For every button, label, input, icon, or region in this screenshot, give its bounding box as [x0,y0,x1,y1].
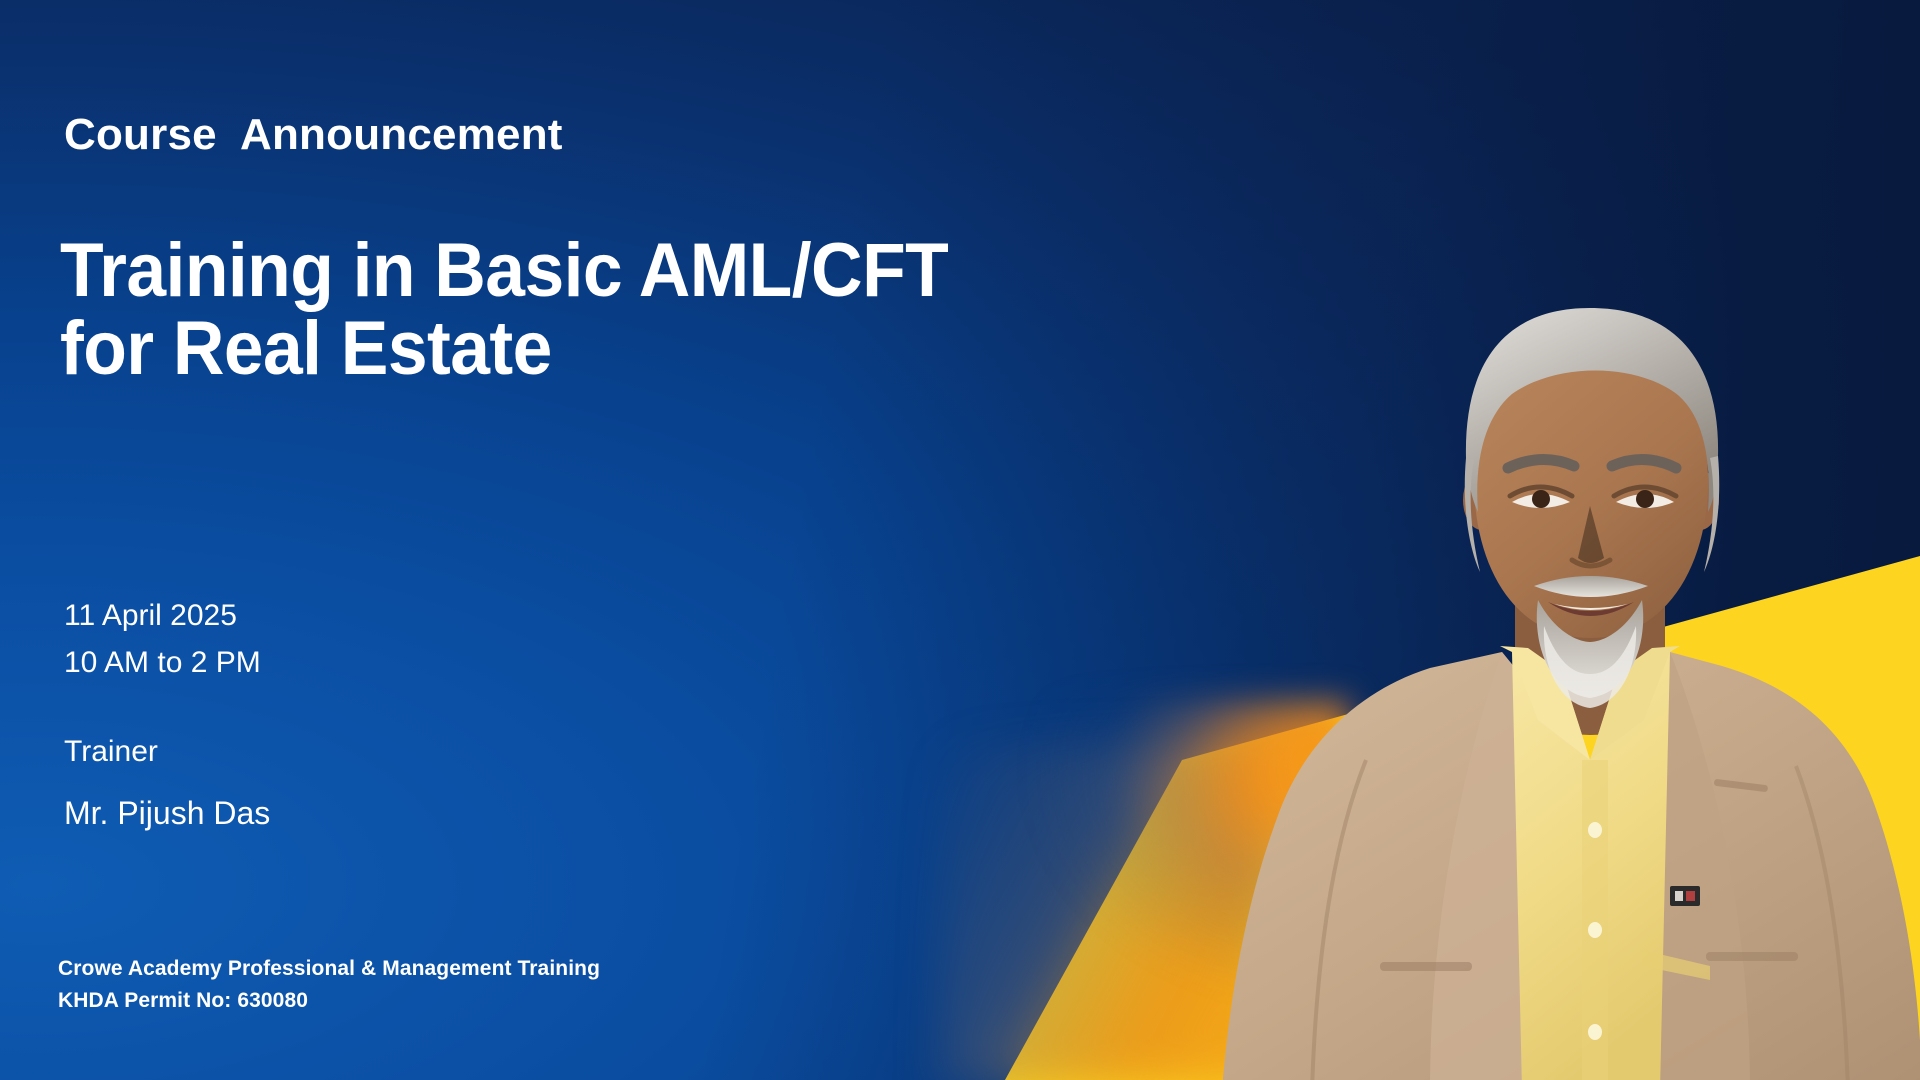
trainer-label: Trainer [64,735,158,769]
trainer-name: Mr. Pijush Das [64,795,270,832]
trainer-photo [1130,290,1920,1080]
page-title: Training in Basic AML/CFT for Real Estat… [60,232,948,389]
head [1463,308,1719,708]
course-announcement-banner: Course Announcement Training in Basic AM… [0,0,1920,1080]
eyebrow-label: Course Announcement [64,110,563,160]
footnote-text: Crowe Academy Professional & Management … [58,953,600,1016]
schedule-text: 11 April 2025 10 AM to 2 PM [64,592,261,687]
